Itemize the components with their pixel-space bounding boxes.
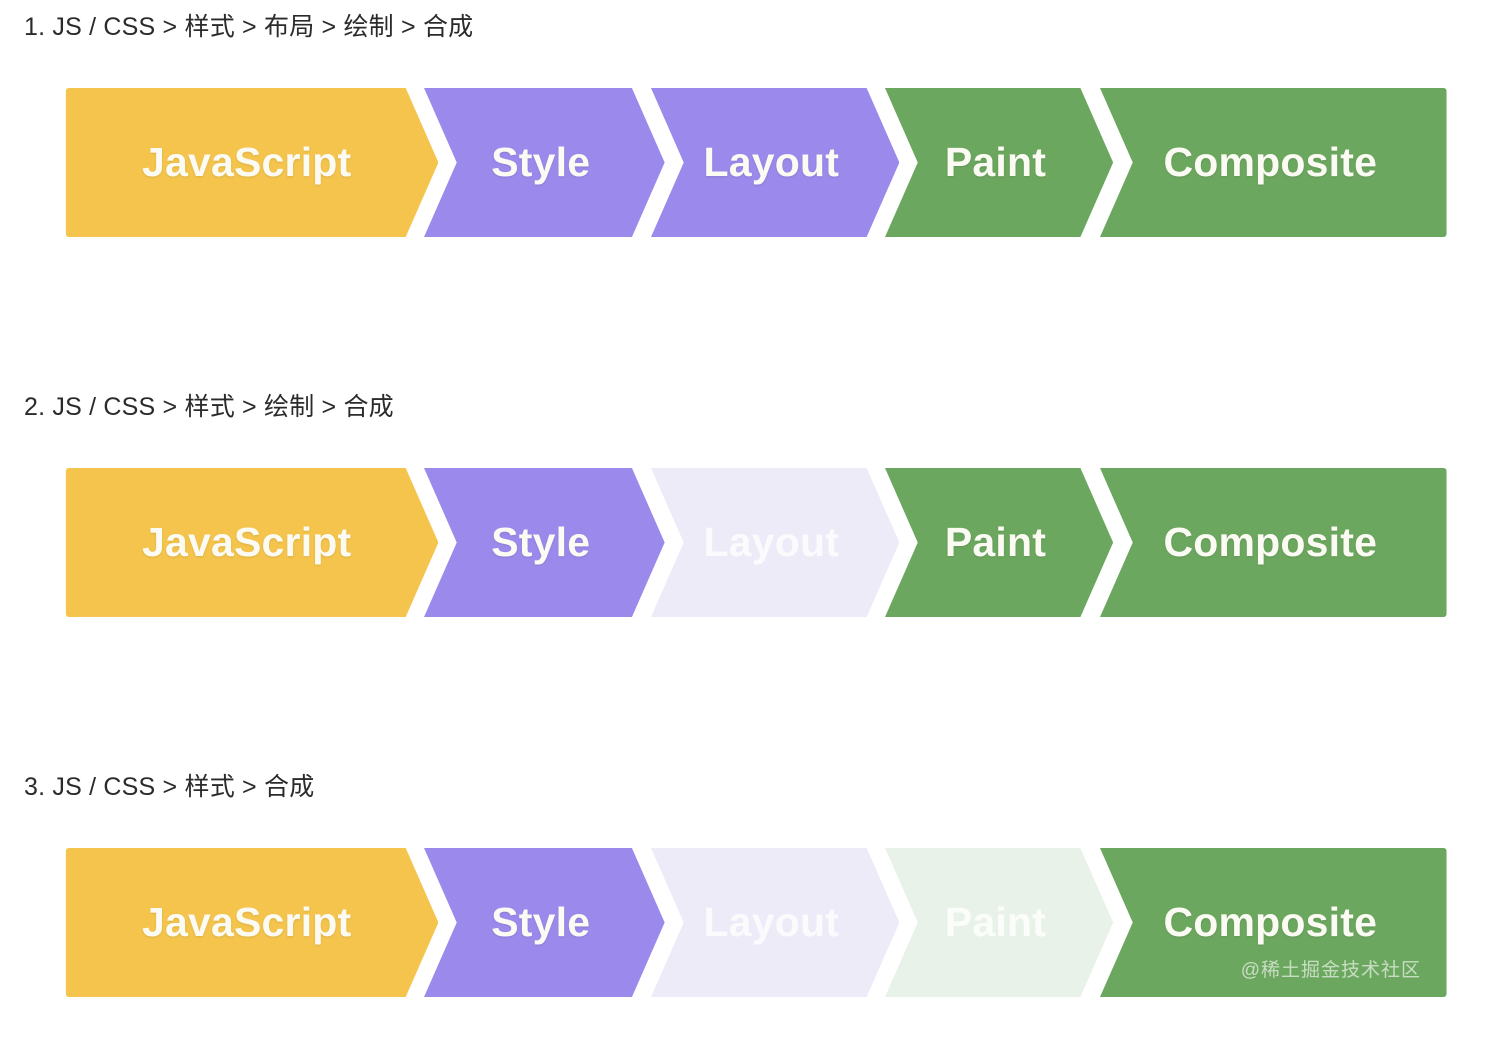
stage-1-paint: Paint [885, 85, 1113, 240]
stage-1-composite: Composite [1100, 85, 1449, 240]
section-pipeline-skip-layout: 2. JS / CSS > 样式 > 绘制 > 合成 JavaScript St… [0, 390, 1512, 620]
section-3-heading: 3. JS / CSS > 样式 > 合成 [0, 770, 1512, 804]
pipeline-2: JavaScript Style Layout [63, 465, 1449, 620]
stage-3-layout-disabled: Layout [651, 845, 899, 1000]
stage-label-layout: Layout [703, 899, 839, 946]
stage-label-composite: Composite [1163, 899, 1377, 946]
stage-1-layout: Layout [651, 85, 899, 240]
stage-label-paint: Paint [945, 139, 1046, 186]
rendering-pipeline-diagram-page: 1. JS / CSS > 样式 > 布局 > 绘制 > 合成 JavaScri… [0, 0, 1512, 1048]
stage-label-javascript: JavaScript [142, 139, 351, 186]
stage-label-layout: Layout [703, 139, 839, 186]
stage-label-paint: Paint [945, 519, 1046, 566]
stage-label-paint: Paint [945, 899, 1046, 946]
section-pipeline-composite-only: 3. JS / CSS > 样式 > 合成 JavaScript Style [0, 770, 1512, 1000]
stage-label-style: Style [491, 899, 590, 946]
stage-2-style: Style [424, 465, 665, 620]
stage-2-paint: Paint [885, 465, 1113, 620]
stage-2-layout-disabled: Layout [651, 465, 899, 620]
stage-3-style: Style [424, 845, 665, 1000]
stage-3-javascript: JavaScript [63, 845, 438, 1000]
stage-2-javascript: JavaScript [63, 465, 438, 620]
stage-label-composite: Composite [1163, 139, 1377, 186]
stage-2-composite: Composite [1100, 465, 1449, 620]
pipeline-1: JavaScript Style Layout [63, 85, 1449, 240]
section-1-heading: 1. JS / CSS > 样式 > 布局 > 绘制 > 合成 [0, 10, 1512, 44]
stage-1-style: Style [424, 85, 665, 240]
stage-label-style: Style [491, 519, 590, 566]
section-2-heading: 2. JS / CSS > 样式 > 绘制 > 合成 [0, 390, 1512, 424]
stage-1-javascript: JavaScript [63, 85, 438, 240]
stage-3-paint-disabled: Paint [885, 845, 1113, 1000]
watermark: @稀土掘金技术社区 [1241, 955, 1421, 982]
stage-label-composite: Composite [1163, 519, 1377, 566]
stage-label-javascript: JavaScript [142, 899, 351, 946]
stage-3-composite: Composite @稀土掘金技术社区 [1100, 845, 1449, 1000]
stage-label-javascript: JavaScript [142, 519, 351, 566]
stage-label-style: Style [491, 139, 590, 186]
pipeline-3: JavaScript Style Layout [63, 845, 1449, 1000]
section-pipeline-full: 1. JS / CSS > 样式 > 布局 > 绘制 > 合成 JavaScri… [0, 10, 1512, 240]
stage-label-layout: Layout [703, 519, 839, 566]
